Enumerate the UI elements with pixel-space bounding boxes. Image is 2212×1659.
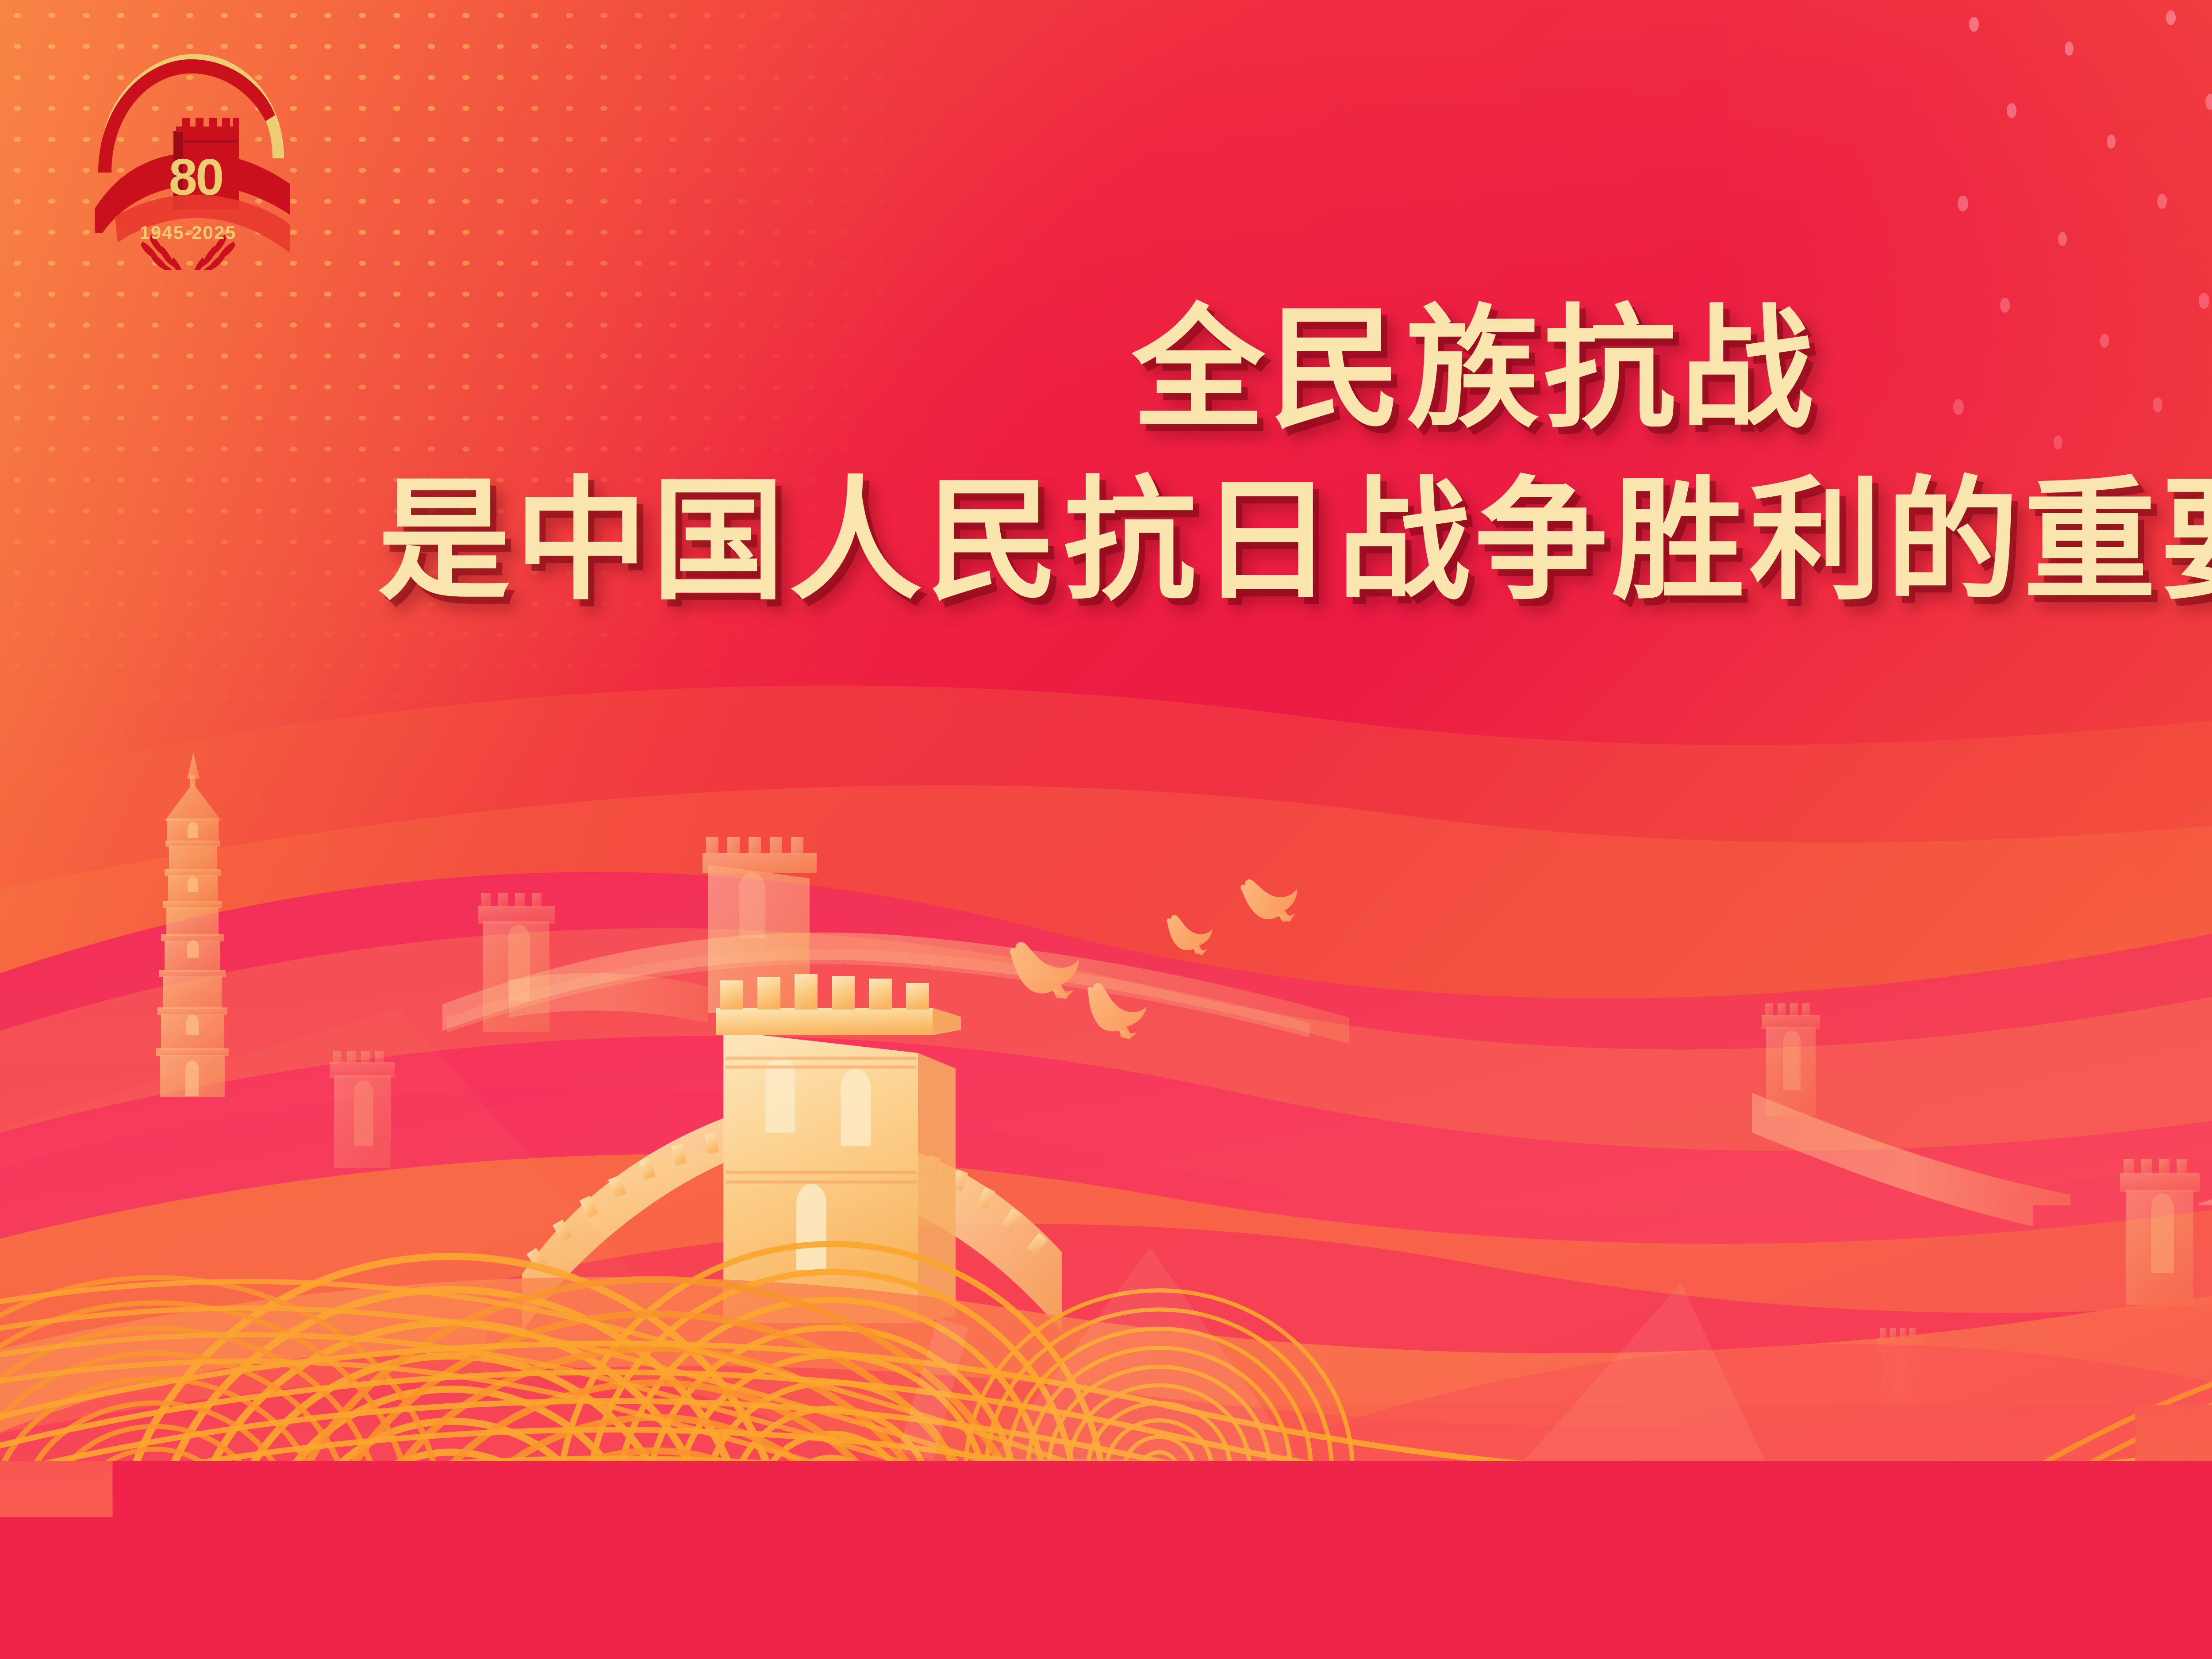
poster-canvas: 80 bbox=[0, 0, 2212, 1659]
anniversary-emblem: 80 bbox=[75, 40, 301, 270]
overlay-facets bbox=[0, 0, 2212, 1659]
emblem-number: 80 bbox=[169, 148, 222, 206]
emblem-years: 1945-2025 bbox=[140, 222, 237, 243]
